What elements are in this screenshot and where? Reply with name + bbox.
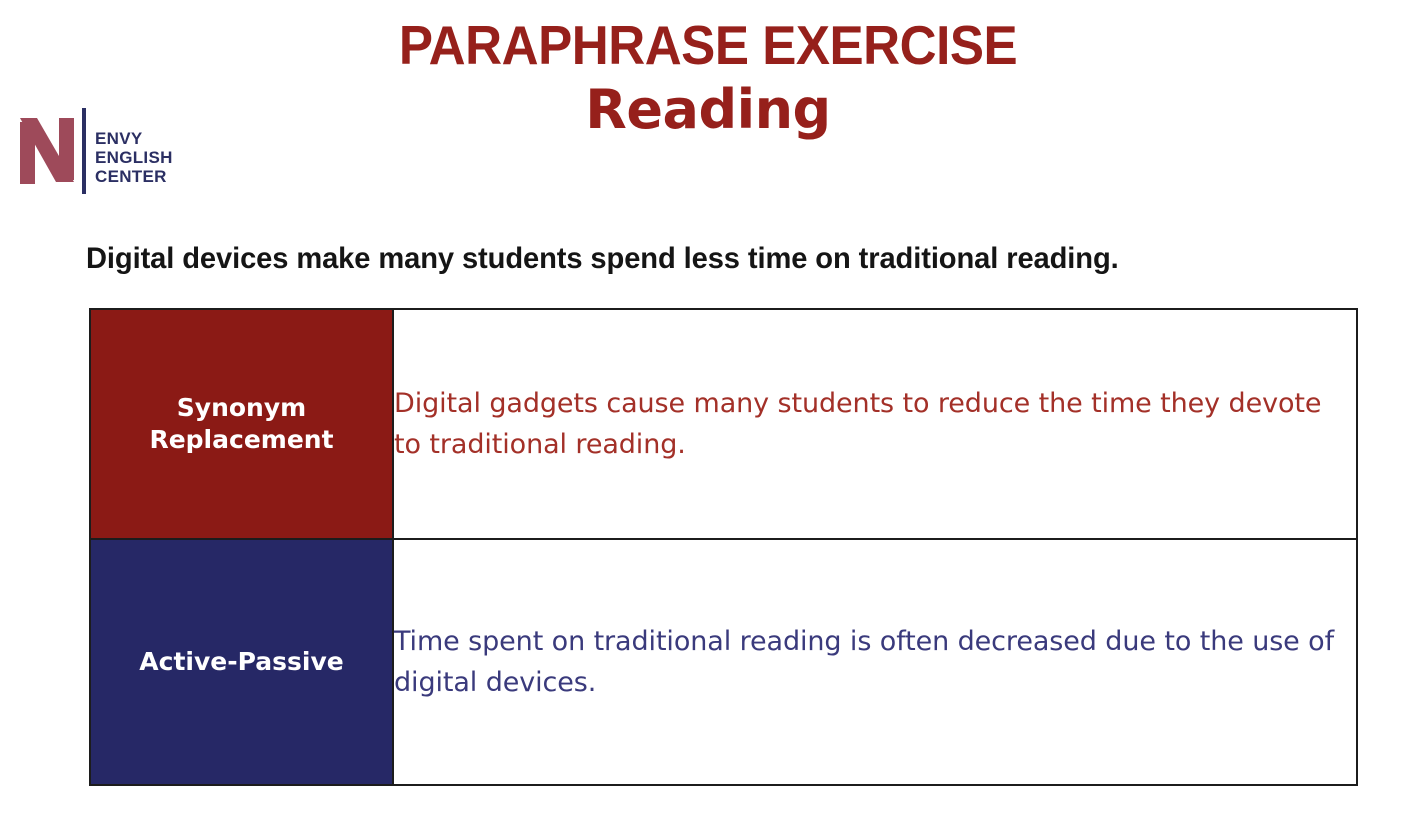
table-row: Active-Passive Time spent on traditional… <box>90 539 1357 785</box>
prompt-sentence: Digital devices make many students spend… <box>86 240 1119 278</box>
page-subtitle: Reading <box>0 78 1416 142</box>
paraphrase-text-active-passive: Time spent on traditional reading is oft… <box>393 539 1357 785</box>
table-row: Synonym Replacement Digital gadgets caus… <box>90 309 1357 539</box>
brand-name-line-2: ENGLISH <box>95 148 173 167</box>
brand-name-line-3: CENTER <box>95 167 173 186</box>
paraphrase-text-synonym-replacement: Digital gadgets cause many students to r… <box>393 309 1357 539</box>
paraphrase-table: Synonym Replacement Digital gadgets caus… <box>89 308 1358 786</box>
header: PARAPHRASE EXERCISE Reading <box>0 14 1416 142</box>
technique-label-synonym-replacement: Synonym Replacement <box>90 309 393 539</box>
technique-label-active-passive: Active-Passive <box>90 539 393 785</box>
page-title: PARAPHRASE EXERCISE <box>50 14 1367 76</box>
